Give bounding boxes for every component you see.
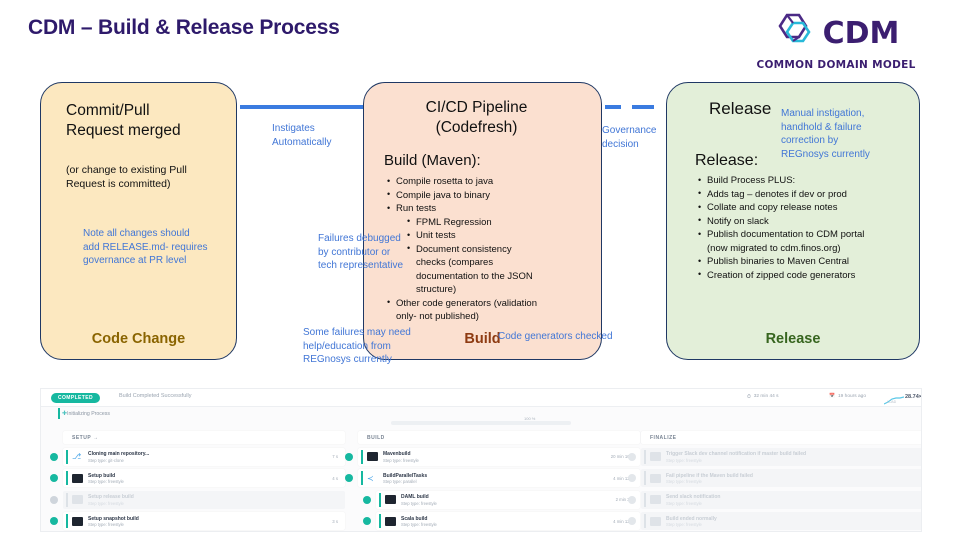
step-accent-bar <box>66 450 68 464</box>
terminal-icon <box>367 452 378 461</box>
release-bullet: Publish binaries to Maven Central <box>697 255 912 268</box>
cdm-logo: CDM COMMON DOMAIN MODEL <box>742 12 930 74</box>
step-title: Send slack notification <box>666 494 720 500</box>
step-accent-bar <box>66 514 68 528</box>
step-skipped-icon <box>628 453 636 461</box>
step-title: Setup snapshot build <box>88 516 139 522</box>
release-note: Manual instigation, handhold & failure c… <box>781 107 885 161</box>
code-change-footer-label: Code Change <box>41 331 236 347</box>
step-accent-bar <box>66 493 68 507</box>
pipeline-step-row[interactable]: MavenbuildStep type: freestyle20 min 10 … <box>358 448 640 466</box>
build-bullet: Compile rosetta to java <box>386 175 598 188</box>
step-title: Mavenbuild <box>383 451 411 457</box>
step-title: Setup release build <box>88 494 134 500</box>
terminal-icon <box>72 517 83 526</box>
pipeline-step-row[interactable]: Build ended normallyStep type: freestyle <box>641 512 922 530</box>
pipeline-step-row[interactable]: Setup release buildStep type: freestyle <box>63 491 345 509</box>
step-title: DAML build <box>401 494 429 500</box>
step-duration: 4 s <box>332 476 338 481</box>
pipeline-step-row[interactable]: Trigger Slack dev channel notification i… <box>641 448 922 466</box>
step-skipped-icon <box>628 517 636 525</box>
pipeline-column-header: FINALIZE <box>641 431 922 444</box>
annotation-some-failures: Some failures may need help/education fr… <box>303 326 427 367</box>
step-title: Setup build <box>88 473 115 479</box>
step-success-icon <box>50 453 58 461</box>
initializing-process-label: Initializing Process <box>67 411 110 417</box>
pipeline-step-row[interactable]: Setup snapshot buildStep type: freestyle… <box>63 512 345 530</box>
build-bullet: Run tests <box>386 202 598 215</box>
stage-box-build[interactable]: CI/CD Pipeline (Codefresh) Build (Maven)… <box>363 82 602 360</box>
release-bullet: Adds tag – denotes if dev or prod <box>697 188 912 201</box>
build-heading: CI/CD Pipeline (Codefresh) <box>404 98 549 138</box>
arrow-1-line <box>240 105 365 109</box>
release-bullet-list: Build Process PLUS:Adds tag – denotes if… <box>697 174 912 282</box>
step-accent-bar <box>379 493 381 507</box>
step-skipped-icon <box>628 474 636 482</box>
build-bullet: structure) <box>386 283 598 296</box>
load-label: LOAD <box>887 400 896 404</box>
step-accent-bar <box>66 471 68 485</box>
arrow-2-dash-4 <box>632 105 654 109</box>
annotation-code-generators-checked: Code generators checked <box>498 330 638 344</box>
build-bullet-list: Compile rosetta to javaCompile java to b… <box>386 175 598 324</box>
build-bullet: Compile java to binary <box>386 189 598 202</box>
build-section-title: Build (Maven): <box>384 151 481 170</box>
progress-label: 100 % <box>524 416 535 421</box>
terminal-icon <box>650 495 661 504</box>
release-heading: Release <box>709 99 771 119</box>
status-badge-label: COMPLETED <box>58 395 93 401</box>
cdm-hexagon-icon <box>773 12 815 55</box>
parallel-icon: ≺ <box>367 474 378 483</box>
code-change-note: Note all changes should add RELEASE.md- … <box>83 227 208 268</box>
release-bullet: Publish documentation to CDM portal <box>697 228 912 241</box>
release-bullet: Build Process PLUS: <box>697 174 912 187</box>
initializing-accent-bar <box>58 408 60 419</box>
progress-bar <box>391 421 571 425</box>
build-bullet: documentation to the JSON <box>386 270 598 283</box>
release-bullet: Collate and copy release notes <box>697 201 912 214</box>
release-section-title: Release: <box>695 151 758 170</box>
step-success-icon <box>50 474 58 482</box>
codefresh-pipeline-screenshot[interactable]: COMPLETED Build Completed Successfully ⏱… <box>40 388 922 532</box>
step-accent-bar <box>644 450 646 464</box>
terminal-icon <box>650 517 661 526</box>
arrow-2-dash-3 <box>605 105 621 109</box>
step-accent-bar <box>379 514 381 528</box>
release-bullet: Creation of zipped code generators <box>697 269 912 282</box>
step-subtitle: Step type: freestyle <box>88 479 124 484</box>
step-accent-bar <box>361 450 363 464</box>
duration-meta: ⏱ 32 min 44 s <box>747 394 779 400</box>
terminal-icon <box>650 474 661 483</box>
step-title: Cloning main repository... <box>88 451 149 457</box>
stage-box-code-change[interactable]: Commit/Pull Request merged (or change to… <box>40 82 237 360</box>
build-bullet: Unit tests <box>386 229 598 242</box>
terminal-icon <box>385 517 396 526</box>
step-success-icon <box>345 474 353 482</box>
release-bullet: Notify on slack <box>697 215 912 228</box>
step-subtitle: Step type: freestyle <box>401 522 437 527</box>
step-success-icon <box>50 517 58 525</box>
step-title: Fail pipeline if the Maven build failed <box>666 473 753 479</box>
step-success-icon <box>363 517 371 525</box>
step-duration: 7 s <box>332 454 338 459</box>
build-bullet: checks (compares <box>386 256 598 269</box>
step-subtitle: Step type: freestyle <box>666 522 702 527</box>
step-subtitle: Step type: freestyle <box>401 501 437 506</box>
logo-tagline: COMMON DOMAIN MODEL <box>756 59 915 71</box>
terminal-icon <box>72 474 83 483</box>
logo-top-row: CDM <box>773 12 900 55</box>
terminal-icon <box>72 495 83 504</box>
step-accent-bar <box>644 493 646 507</box>
duration-value: 32 min 44 s <box>754 394 779 399</box>
release-footer-label: Release <box>667 331 919 347</box>
pipeline-column-header: BUILD <box>358 431 640 444</box>
pipeline-column-build: BUILDMavenbuildStep type: freestyle20 mi… <box>358 431 640 530</box>
pipeline-step-row[interactable]: Setup buildStep type: freestyle4 s <box>63 469 345 487</box>
pipeline-step-row[interactable]: ≺BuildParallelTasksStep type: parallel4 … <box>358 469 640 487</box>
pipeline-step-row[interactable]: Scala buildStep type: freestyle4 min 12 … <box>376 512 640 530</box>
build-bullet: Document consistency <box>386 243 598 256</box>
age-meta: 📅 19 hours ago <box>829 394 866 399</box>
step-skipped-icon <box>50 496 58 504</box>
calendar-icon: 📅 <box>829 394 835 399</box>
step-success-icon <box>363 496 371 504</box>
pipeline-step-row[interactable]: DAML buildStep type: freestyle2 min 3 s <box>376 491 640 509</box>
clock-icon: ⏱ <box>747 394 751 400</box>
age-value: 19 hours ago <box>838 394 866 399</box>
pipeline-column-header: SETUP → <box>63 431 345 444</box>
terminal-icon <box>650 452 661 461</box>
annotation-instigates-automatically: Instigates Automatically <box>272 122 350 149</box>
step-duration: 3 s <box>332 519 338 524</box>
build-status-text: Build Completed Successfully <box>119 393 191 399</box>
git-branch-icon: ⎇ <box>72 452 83 461</box>
step-subtitle: Step type: parallel <box>383 479 417 484</box>
step-subtitle: Step type: freestyle <box>666 501 702 506</box>
release-bullet: (now migrated to cdm.finos.org) <box>697 242 912 255</box>
step-subtitle: Step type: freestyle <box>88 522 124 527</box>
load-value: 28.74× <box>905 394 922 400</box>
annotation-failures-debugged: Failures debugged by contributor or tech… <box>318 232 410 273</box>
step-title: Scala build <box>401 516 427 522</box>
pipeline-step-row[interactable]: ⎇Cloning main repository...Step type: gi… <box>63 448 345 466</box>
stage-box-release[interactable]: Release Manual instigation, handhold & f… <box>666 82 920 360</box>
pipeline-step-row[interactable]: Fail pipeline if the Maven build failedS… <box>641 469 922 487</box>
code-change-subtext: (or change to existing Pull Request is c… <box>66 163 216 191</box>
code-change-heading: Commit/Pull Request merged <box>66 101 196 141</box>
step-subtitle: Step type: freestyle <box>383 458 419 463</box>
annotation-governance-decision: Governance decision <box>602 124 672 151</box>
step-title: Trigger Slack dev channel notification i… <box>666 451 806 457</box>
status-badge: COMPLETED <box>51 393 100 403</box>
step-skipped-icon <box>628 496 636 504</box>
pipeline-column-finalize: FINALIZETrigger Slack dev channel notifi… <box>641 431 922 530</box>
build-bullet: FPML Regression <box>386 216 598 229</box>
step-accent-bar <box>644 514 646 528</box>
pipeline-column-setup: SETUP →⎇Cloning main repository...Step t… <box>63 431 345 530</box>
logo-wordmark: CDM <box>823 19 900 49</box>
step-subtitle: Step type: freestyle <box>666 458 702 463</box>
step-accent-bar <box>361 471 363 485</box>
step-success-icon <box>345 453 353 461</box>
step-title: Build ended normally <box>666 516 717 522</box>
build-bullet: Other code generators (validation <box>386 297 598 310</box>
build-bullet: only- not published) <box>386 310 598 323</box>
step-subtitle: Step type: freestyle <box>88 501 124 506</box>
step-title: BuildParallelTasks <box>383 473 427 479</box>
pipeline-step-row[interactable]: Send slack notificationStep type: freest… <box>641 491 922 509</box>
page-title: CDM – Build & Release Process <box>28 16 340 40</box>
step-subtitle: Step type: git-clone <box>88 458 124 463</box>
step-subtitle: Step type: freestyle <box>666 479 702 484</box>
terminal-icon <box>385 495 396 504</box>
step-accent-bar <box>644 471 646 485</box>
